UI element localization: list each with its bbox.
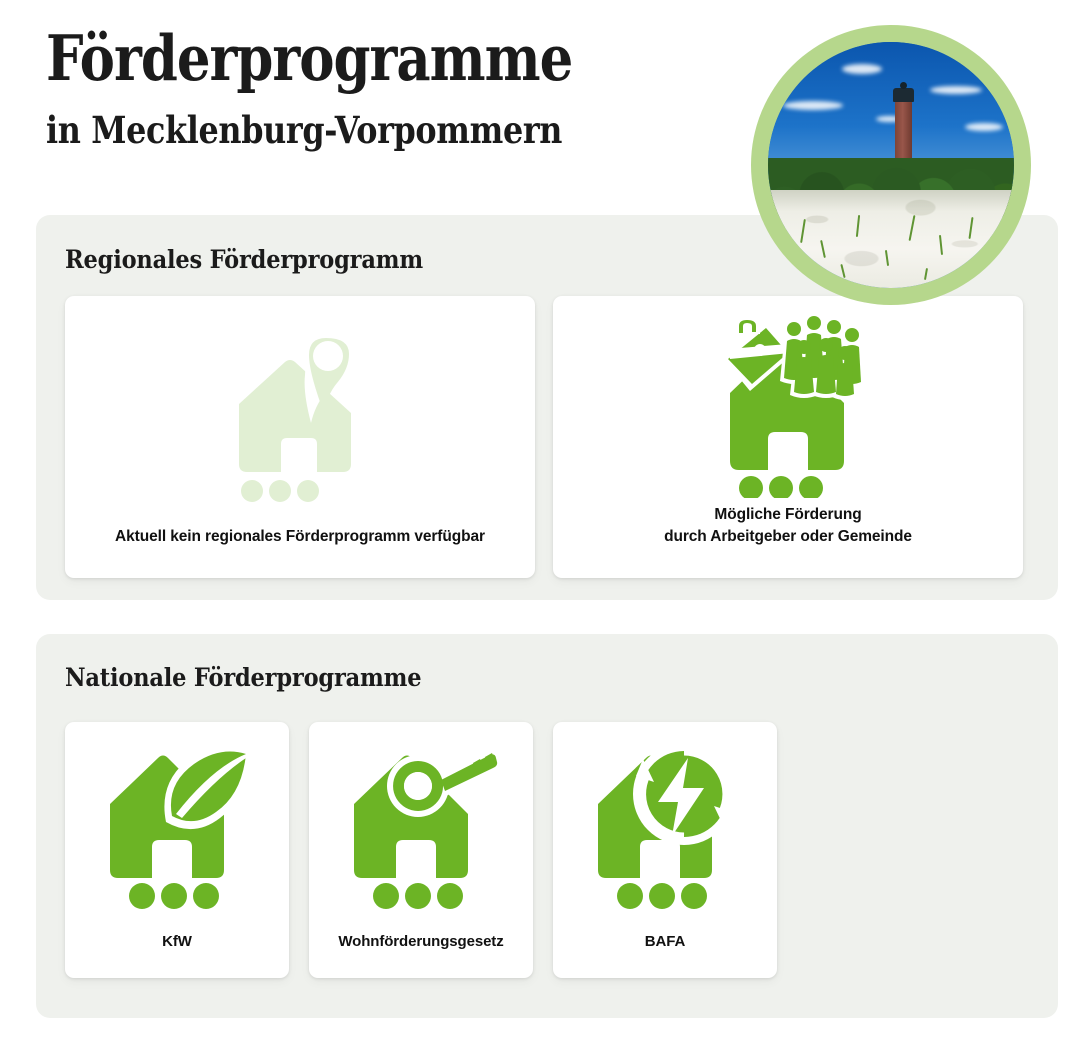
caption-line: BAFA — [563, 931, 767, 952]
header: Förderprogramme in Mecklenburg-Vorpommer… — [46, 26, 746, 150]
house-key-icon — [309, 722, 533, 931]
photo-image — [768, 42, 1014, 288]
card-no-regional-program[interactable]: Aktuell kein regionales Förderprogramm v… — [65, 296, 535, 578]
section-title-regional: Regionales Förderprogramm — [65, 245, 423, 274]
house-energy-bolt-icon — [553, 722, 777, 931]
card-employer-or-municipality[interactable]: Mögliche Förderung durch Arbeitgeber ode… — [553, 296, 1023, 578]
caption-line: Aktuell kein regionales Förderprogramm v… — [81, 526, 519, 548]
section-title-national: Nationale Förderprogramme — [65, 663, 421, 692]
caption-line: KfW — [75, 931, 279, 952]
house-map-pin-icon — [65, 296, 535, 526]
caption-line: durch Arbeitgeber oder Gemeinde — [569, 526, 1007, 548]
card-caption: Mögliche Förderung durch Arbeitgeber ode… — [553, 504, 1023, 578]
card-caption: Wohnförderungsgesetz — [309, 931, 533, 978]
card-caption: KfW — [65, 931, 289, 978]
card-wohnfoerderungsgesetz[interactable]: Wohnförderungsgesetz — [309, 722, 533, 978]
lighthouse-dune-photo — [751, 25, 1031, 305]
house-briefcase-people-icon — [553, 296, 1023, 504]
page-title: Förderprogramme — [46, 26, 634, 92]
page-subtitle: in Mecklenburg-Vorpommern — [46, 110, 648, 151]
caption-line: Wohnförderungsgesetz — [319, 931, 523, 952]
card-caption: Aktuell kein regionales Förderprogramm v… — [65, 526, 535, 578]
infographic-page: Förderprogramme in Mecklenburg-Vorpommer… — [0, 0, 1090, 1058]
cloud — [783, 101, 843, 110]
house-leaf-icon — [65, 722, 289, 931]
card-caption: BAFA — [553, 931, 777, 978]
section-national: Nationale Förderprogramme — [36, 634, 1058, 1018]
card-bafa[interactable]: BAFA — [553, 722, 777, 978]
caption-line: Mögliche Förderung — [569, 504, 1007, 526]
sand — [768, 190, 1014, 288]
card-kfw[interactable]: KfW — [65, 722, 289, 978]
